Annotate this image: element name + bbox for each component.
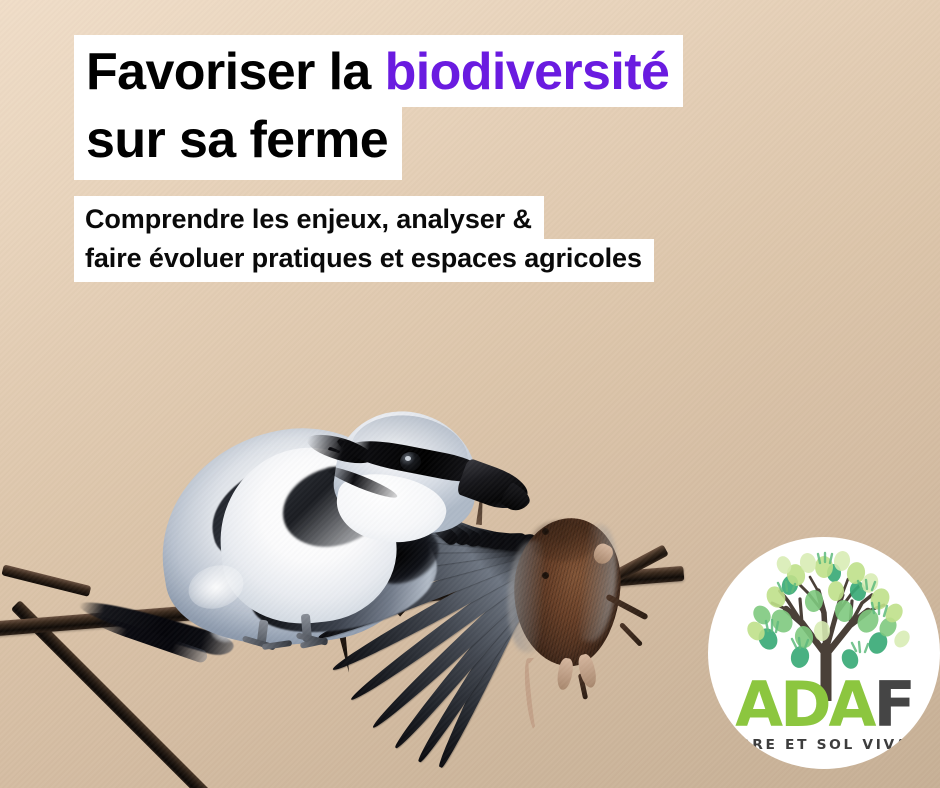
poster-canvas: Favoriser la biodiversité sur sa ferme C… bbox=[0, 0, 940, 788]
title-line-2: sur sa ferme bbox=[74, 107, 402, 181]
logo-brandmark: ADAF bbox=[708, 677, 940, 733]
subtitle-line-2: faire évoluer pratiques et espaces agric… bbox=[74, 239, 654, 283]
bird-eye bbox=[400, 452, 421, 471]
title-highlight-word: biodiversité bbox=[385, 43, 670, 101]
mouse-tail bbox=[522, 658, 542, 733]
logo-text-ada: ADA bbox=[735, 668, 873, 741]
logo-wordmark: ADAF ARBRE ET SOL VIVANT bbox=[708, 677, 940, 753]
title-line-1: Favoriser la biodiversité bbox=[74, 35, 683, 107]
mouse-eye bbox=[542, 572, 549, 579]
bird-eye-glint bbox=[405, 456, 411, 461]
page-title: Favoriser la biodiversité sur sa ferme bbox=[74, 35, 683, 180]
mouse-head-shading bbox=[530, 520, 596, 562]
page-subtitle: Comprendre les enjeux, analyser & faire … bbox=[74, 196, 654, 282]
mouse-limb bbox=[619, 622, 643, 647]
mouse-eye bbox=[542, 528, 549, 535]
subtitle-line-1: Comprendre les enjeux, analyser & bbox=[74, 196, 544, 239]
adaf-logo-badge: ADAF ARBRE ET SOL VIVANT bbox=[708, 537, 940, 769]
mouse-flank-left bbox=[505, 539, 545, 653]
logo-inner: ADAF ARBRE ET SOL VIVANT bbox=[708, 537, 940, 769]
title-prefix: Favoriser la bbox=[86, 43, 385, 101]
shrike-bird bbox=[60, 280, 480, 680]
impaled-mouse bbox=[498, 496, 648, 706]
logo-tagline: ARBRE ET SOL VIVANT bbox=[708, 737, 940, 753]
logo-text-f: F bbox=[874, 668, 913, 741]
